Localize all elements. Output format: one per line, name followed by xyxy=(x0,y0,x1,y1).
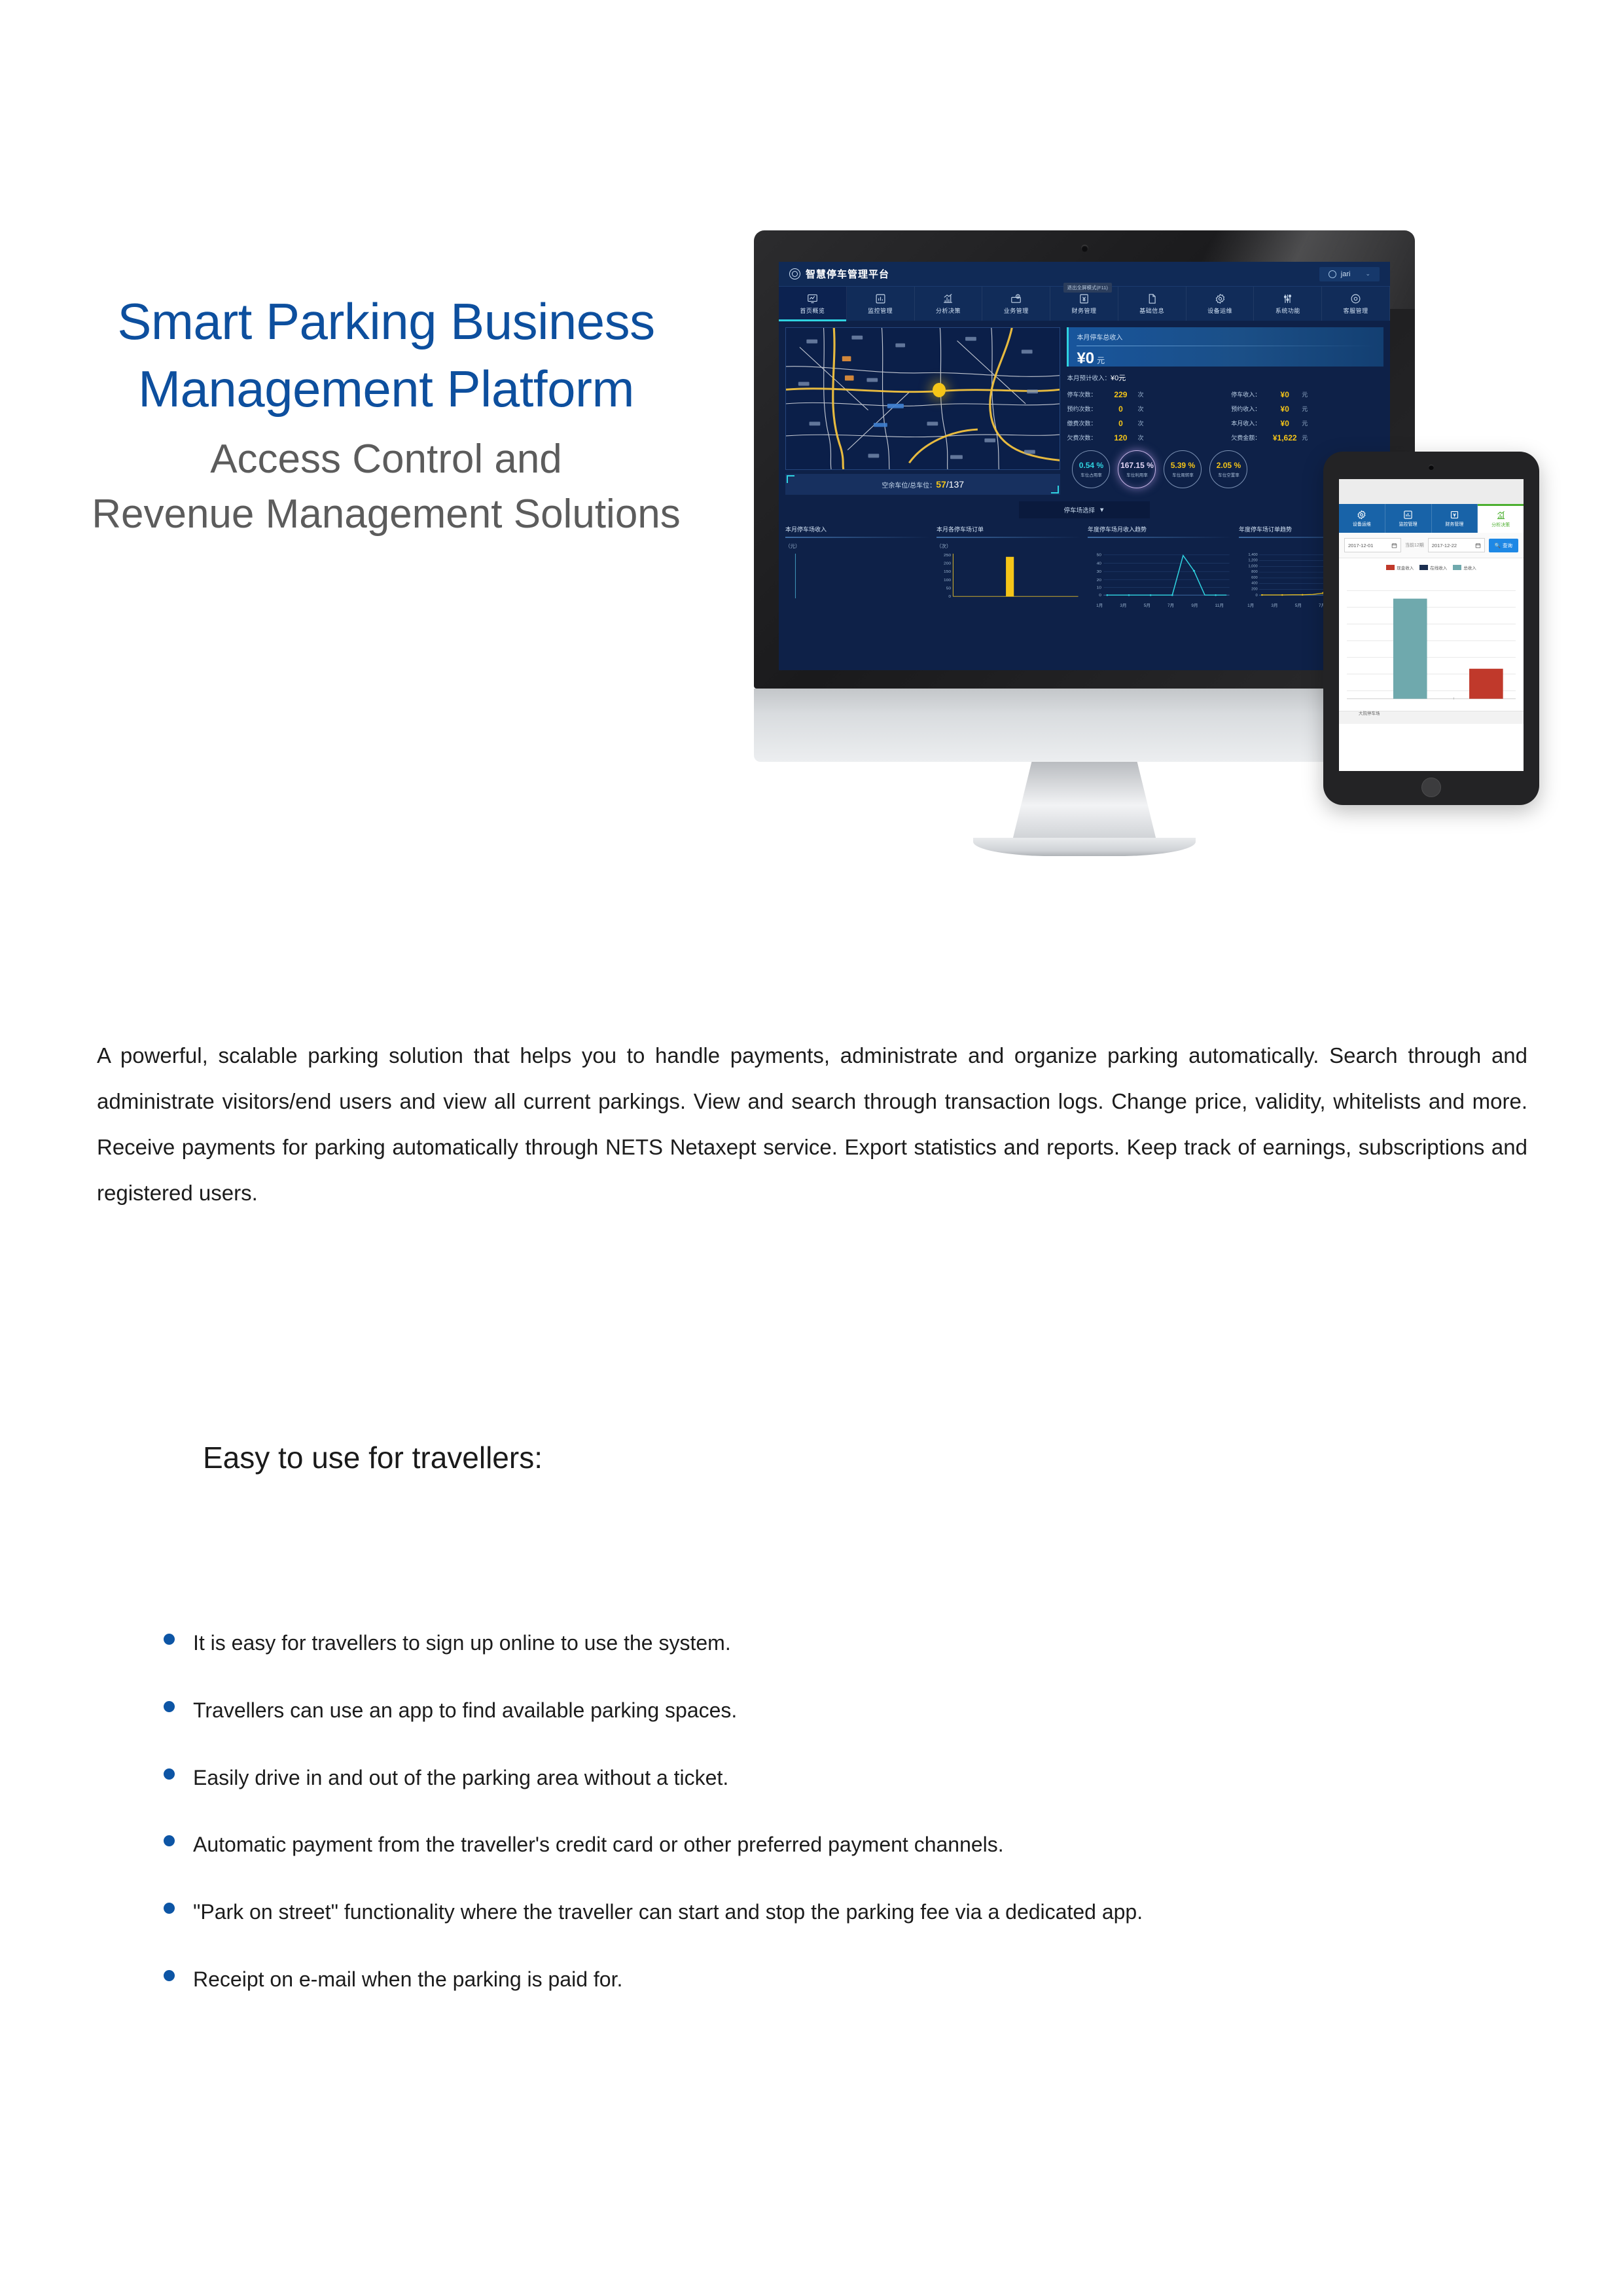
x-tick: 5月 xyxy=(1144,601,1150,608)
lot-selector-label: 停车场选择 xyxy=(1064,505,1096,514)
user-name: jari xyxy=(1341,270,1351,278)
stat-row: 欠费金额： ¥1,622 元 xyxy=(1231,431,1383,444)
legend-swatch xyxy=(1419,565,1428,570)
expected-revenue-line: 本月预计收入：¥0元 xyxy=(1067,372,1383,383)
svg-text:250: 250 xyxy=(944,553,952,558)
bullet-dot-icon xyxy=(164,1903,175,1914)
x-tick: 1月 xyxy=(1247,601,1254,608)
nav-label: 基础信息 xyxy=(1139,306,1164,315)
svg-text:30: 30 xyxy=(1097,569,1102,574)
divider xyxy=(1088,537,1232,538)
svg-text:0: 0 xyxy=(1099,593,1101,598)
date-from-input[interactable]: 2017-12-01 xyxy=(1344,538,1401,552)
svg-text:50: 50 xyxy=(1097,553,1102,558)
svg-text:100: 100 xyxy=(944,578,952,583)
tablet-chart-legend: 现金收入 在线收入 总收入 xyxy=(1339,558,1524,573)
chart-ylabel: （元） xyxy=(785,543,930,550)
intro-paragraph: A powerful, scalable parking solution th… xyxy=(97,1033,1527,1216)
stat-key: 停车收入： xyxy=(1231,390,1268,399)
chart-canvas xyxy=(785,551,930,602)
divider xyxy=(1077,346,1376,346)
gauge-label: 车位利用率 xyxy=(1126,471,1148,478)
nav-label: 财务管理 xyxy=(1072,306,1097,315)
logo-icon xyxy=(789,268,800,279)
gauge-turnover: 5.39 % 车位周转率 xyxy=(1164,450,1202,488)
document-icon xyxy=(1147,293,1158,304)
stat-key: 欠费金额： xyxy=(1231,433,1268,442)
nav-item-monitoring[interactable]: 监控管理 xyxy=(847,287,915,321)
tablet-chart-xlabel: 大院停车场 xyxy=(1347,709,1516,716)
hero-section: Smart Parking Business Management Platfo… xyxy=(0,0,1623,903)
x-tick: 3月 xyxy=(1120,601,1126,608)
stat-unit: 次 xyxy=(1137,419,1149,427)
tablet-nav-item-device-ops[interactable]: 设备运维 xyxy=(1339,504,1385,533)
stat-row: 本月收入： ¥0 元 xyxy=(1231,417,1383,429)
stat-unit: 元 xyxy=(1302,433,1313,442)
page-subtitle-line-1: Access Control and xyxy=(59,432,713,487)
svg-text:1,400: 1,400 xyxy=(1248,553,1257,557)
date-from-value: 2017-12-01 xyxy=(1348,543,1373,548)
bullet-text: It is easy for travellers to sign up onl… xyxy=(193,1623,1505,1663)
stat-unit: 元 xyxy=(1302,419,1313,427)
list-item: "Park on street" functionality where the… xyxy=(164,1892,1505,1932)
stat-key: 预约次数： xyxy=(1067,404,1103,413)
date-range-separator: 当前12期 xyxy=(1405,542,1424,548)
chart-title: 本月停车场收入 xyxy=(785,525,930,537)
tablet-screen: 设备运维 监控管理 财务管理 分析决策 2017-12-01 xyxy=(1339,479,1524,771)
x-tick: 1月 xyxy=(1096,601,1103,608)
list-item: Travellers can use an app to find availa… xyxy=(164,1691,1505,1731)
bar-total-revenue xyxy=(1393,599,1427,699)
tablet-nav-item-monitoring[interactable]: 监控管理 xyxy=(1385,504,1432,533)
search-button-label: 查询 xyxy=(1503,542,1512,549)
stat-value: ¥0 xyxy=(1268,390,1302,399)
spaces-label: 空余车位/总车位： xyxy=(882,480,936,490)
calendar-icon xyxy=(1475,543,1481,548)
search-icon: 🔍 xyxy=(1495,543,1501,548)
legend-label: 总收入 xyxy=(1463,564,1476,571)
page-title-line-2: Management Platform xyxy=(59,355,713,423)
stat-value: 0 xyxy=(1103,404,1137,414)
gauge-value: 167.15 % xyxy=(1120,461,1154,470)
svg-text:50: 50 xyxy=(946,586,952,591)
legend-swatch xyxy=(1453,565,1461,570)
legend-label: 现金收入 xyxy=(1397,564,1414,571)
chart-monthly-lot-orders: 本月各停车场订单 （次） 250200 150100 500 xyxy=(936,525,1081,608)
svg-text:40: 40 xyxy=(1097,562,1102,566)
dashboard-screen: 智慧停车管理平台 jari ⌄ 首页概览 xyxy=(779,262,1390,670)
chart-annual-revenue-trend: 年度停车场月收入趋势 xyxy=(1088,525,1232,608)
tablet-statusbar xyxy=(1339,479,1524,504)
gauge-vacancy: 2.05 % 车位空置率 xyxy=(1209,450,1247,488)
stat-row: 预约收入： ¥0 元 xyxy=(1231,403,1383,415)
stat-unit: 次 xyxy=(1137,433,1149,442)
section-heading: Easy to use for travellers: xyxy=(203,1440,543,1475)
stat-key: 欠费次数： xyxy=(1067,433,1103,442)
divider xyxy=(785,537,930,538)
map-location-pin-icon xyxy=(933,383,946,397)
nav-label: 首页概览 xyxy=(800,306,825,315)
divider xyxy=(936,537,1081,538)
nav-item-device-ops[interactable]: 设备运维 xyxy=(1186,287,1255,321)
svg-text:150: 150 xyxy=(944,569,952,574)
tablet-mockup: 设备运维 监控管理 财务管理 分析决策 2017-12-01 xyxy=(1323,452,1539,805)
dashboard-title: 智慧停车管理平台 xyxy=(806,267,889,281)
list-item: Easily drive in and out of the parking a… xyxy=(164,1758,1505,1798)
nav-label: 分析决策 xyxy=(936,306,961,315)
chevron-down-icon: ⌄ xyxy=(1365,270,1370,278)
bullet-text: Travellers can use an app to find availa… xyxy=(193,1691,1505,1731)
svg-text:1,200: 1,200 xyxy=(1248,559,1257,563)
yen-box-icon xyxy=(1450,510,1459,520)
bar-chart-icon xyxy=(875,293,886,304)
x-tick: 5月 xyxy=(1295,601,1302,608)
stat-row: 欠费次数： 120 次 xyxy=(1067,431,1219,444)
trend-chart-icon xyxy=(1496,511,1506,520)
page-subtitle-line-2: Revenue Management Solutions xyxy=(59,487,713,542)
bar-chart-icon xyxy=(1403,510,1413,520)
stat-row: 预约次数： 0 次 xyxy=(1067,403,1219,415)
svg-text:600: 600 xyxy=(1251,576,1258,580)
stat-key: 缴费次数： xyxy=(1067,419,1103,427)
nav-item-finance[interactable]: 退出全屏模式(F11) 财务管理 xyxy=(1050,287,1118,321)
gauge-value: 0.54 % xyxy=(1079,461,1103,470)
svg-text:400: 400 xyxy=(1251,582,1258,586)
bullet-dot-icon xyxy=(164,1970,175,1981)
list-item: Receipt on e-mail when the parking is pa… xyxy=(164,1960,1505,2000)
gear-icon xyxy=(1215,293,1226,304)
tablet-date-filter: 2017-12-01 当前12期 2017-12-22 🔍 查询 xyxy=(1339,533,1524,558)
date-to-input[interactable]: 2017-12-22 xyxy=(1428,538,1485,552)
parking-lot-selector[interactable]: 停车场选择 ▼ xyxy=(1019,501,1150,518)
tablet-nav-item-analysis[interactable]: 分析决策 xyxy=(1478,504,1524,533)
stat-row: 停车次数： 229 次 xyxy=(1067,388,1219,401)
chart-canvas: 250200 150100 500 xyxy=(936,551,1081,602)
chart-canvas: 5040 3020 100 xyxy=(1088,550,1232,601)
svg-text:0: 0 xyxy=(948,594,951,599)
monitor-base xyxy=(973,838,1196,856)
revenue-unit: 元 xyxy=(1097,356,1105,365)
stat-value: ¥1,622 xyxy=(1268,433,1302,442)
x-tick: 9月 xyxy=(1191,601,1198,608)
trend-chart-icon xyxy=(942,293,954,304)
map-panel: 空余车位/总车位： 57 /137 xyxy=(785,327,1060,495)
svg-text:200: 200 xyxy=(1251,588,1258,592)
chart-monthly-lot-revenue: 本月停车场收入 （元） xyxy=(785,525,930,608)
gear-icon xyxy=(1357,510,1366,520)
x-tick: 7月 xyxy=(1168,601,1174,608)
stat-value: 229 xyxy=(1103,390,1137,399)
stat-row: 缴费次数： 0 次 xyxy=(1067,417,1219,429)
gauge-value: 2.05 % xyxy=(1217,461,1241,470)
stat-unit: 次 xyxy=(1137,390,1149,399)
stat-unit: 次 xyxy=(1137,404,1149,413)
map-roads xyxy=(786,328,1060,469)
stat-value: ¥0 xyxy=(1268,419,1302,428)
tablet-nav-item-finance[interactable]: 财务管理 xyxy=(1432,504,1478,533)
chart-title: 年度停车场月收入趋势 xyxy=(1088,525,1232,537)
feature-bullet-list: It is easy for travellers to sign up onl… xyxy=(164,1623,1505,2027)
tablet-camera-icon xyxy=(1429,465,1434,470)
nav-label: 监控管理 xyxy=(868,306,893,315)
nav-item-overview[interactable]: 首页概览 xyxy=(779,287,847,321)
briefcase-clock-icon xyxy=(1010,293,1022,304)
stat-key: 预约收入： xyxy=(1231,404,1268,413)
legend-item-total[interactable]: 总收入 xyxy=(1453,564,1476,571)
expected-label: 本月预计收入： xyxy=(1067,375,1111,382)
sliders-icon xyxy=(1282,293,1293,304)
stat-value: 0 xyxy=(1103,419,1137,428)
tablet-nav-label: 财务管理 xyxy=(1445,521,1463,528)
dashboard-content: 空余车位/总车位： 57 /137 本月停车总收入 ¥0元 xyxy=(779,321,1390,615)
fullscreen-tooltip: 退出全屏模式(F11) xyxy=(1063,283,1112,293)
nav-item-analysis[interactable]: 分析决策 xyxy=(915,287,983,321)
monitor-stand xyxy=(1011,762,1158,846)
page-title-line-1: Smart Parking Business xyxy=(59,288,713,355)
nav-item-basic-info[interactable]: 基础信息 xyxy=(1118,287,1186,321)
expected-value: ¥0元 xyxy=(1111,374,1126,382)
bullet-dot-icon xyxy=(164,1634,175,1645)
chevron-down-icon: ▼ xyxy=(1099,507,1105,514)
search-button[interactable]: 🔍 查询 xyxy=(1489,539,1518,552)
legend-item-online[interactable]: 在线收入 xyxy=(1419,564,1447,571)
date-to-value: 2017-12-22 xyxy=(1432,543,1457,548)
monitor-chin xyxy=(754,689,1415,762)
gauge-utilization: 167.15 % 车位利用率 xyxy=(1118,450,1156,488)
hero-text-block: Smart Parking Business Management Platfo… xyxy=(59,288,713,541)
x-tick: 11月 xyxy=(1215,601,1224,608)
nav-label: 客服管理 xyxy=(1344,306,1368,315)
bullet-text: "Park on street" functionality where the… xyxy=(193,1892,1505,1932)
bullet-text: Easily drive in and out of the parking a… xyxy=(193,1758,1505,1798)
headset-icon xyxy=(1350,293,1361,304)
tablet-nav-label: 分析决策 xyxy=(1491,522,1510,528)
charts-row: 本月停车场收入 （元） 本月各停车场订单 xyxy=(785,525,1383,608)
stat-value: 120 xyxy=(1103,433,1137,442)
chart-ylabel: （次） xyxy=(936,543,1081,550)
bullet-dot-icon xyxy=(164,1768,175,1780)
nav-label: 业务管理 xyxy=(1004,306,1029,315)
parking-map[interactable] xyxy=(785,327,1060,470)
tablet-nav-label: 设备运维 xyxy=(1353,521,1371,528)
nav-label: 系统功能 xyxy=(1275,306,1300,315)
list-item: Automatic payment from the traveller's c… xyxy=(164,1825,1505,1865)
stat-row: 停车收入： ¥0 元 xyxy=(1231,388,1383,401)
tablet-revenue-chart: 大院停车场 xyxy=(1339,573,1524,711)
gauge-label: 车位占用率 xyxy=(1080,471,1102,478)
legend-swatch xyxy=(1386,565,1395,570)
parking-spaces-indicator: 空余车位/总车位： 57 /137 xyxy=(785,474,1060,495)
nav-item-system[interactable]: 系统功能 xyxy=(1254,287,1322,321)
desktop-monitor-mockup: 智慧停车管理平台 jari ⌄ 首页概览 xyxy=(754,230,1415,793)
svg-text:10: 10 xyxy=(1097,586,1102,590)
gauge-label: 车位周转率 xyxy=(1172,471,1194,478)
bullet-dot-icon xyxy=(164,1701,175,1712)
bullet-dot-icon xyxy=(164,1835,175,1846)
legend-label: 在线收入 xyxy=(1430,564,1447,571)
revenue-amount: ¥0 xyxy=(1077,350,1094,367)
revenue-label: 本月停车总收入 xyxy=(1077,332,1376,342)
chart-title: 本月各停车场订单 xyxy=(936,525,1081,537)
nav-label: 设备运维 xyxy=(1207,306,1232,315)
stat-key: 停车次数： xyxy=(1067,390,1103,399)
dashboard-nav: 首页概览 监控管理 分析决策 业务管理 退出全屏模 xyxy=(779,287,1390,321)
monitor-bezel: 智慧停车管理平台 jari ⌄ 首页概览 xyxy=(754,230,1415,689)
svg-text:20: 20 xyxy=(1097,578,1102,583)
tablet-nav-label: 监控管理 xyxy=(1399,521,1418,528)
tablet-nav: 设备运维 监控管理 财务管理 分析决策 xyxy=(1339,504,1524,533)
user-menu[interactable]: jari ⌄ xyxy=(1319,267,1380,281)
stat-unit: 元 xyxy=(1302,390,1313,399)
bullet-text: Receipt on e-mail when the parking is pa… xyxy=(193,1960,1505,2000)
legend-item-cash[interactable]: 现金收入 xyxy=(1386,564,1414,571)
calendar-icon xyxy=(1391,543,1397,548)
spaces-total-value: /137 xyxy=(946,479,964,490)
bar-cash-revenue xyxy=(1469,669,1503,699)
chart-x-labels: 1月 3月 5月 7月 9月 11月 xyxy=(1088,601,1232,608)
tablet-home-button[interactable] xyxy=(1421,778,1441,797)
dashboard-brand: 智慧停车管理平台 xyxy=(789,267,889,281)
svg-text:800: 800 xyxy=(1251,570,1258,574)
x-tick: 3月 xyxy=(1271,601,1277,608)
gauge-occupancy: 0.54 % 车位占用率 xyxy=(1072,450,1110,488)
nav-item-customer-service[interactable]: 客服管理 xyxy=(1322,287,1390,321)
nav-item-business[interactable]: 业务管理 xyxy=(982,287,1050,321)
list-item: It is easy for travellers to sign up onl… xyxy=(164,1623,1505,1663)
user-avatar-icon xyxy=(1329,270,1336,278)
yen-box-icon xyxy=(1079,293,1090,304)
spaces-free-value: 57 xyxy=(936,479,946,490)
svg-text:200: 200 xyxy=(944,562,952,566)
stat-unit: 元 xyxy=(1302,404,1313,413)
webcam-icon xyxy=(1081,245,1088,252)
stat-value: ¥0 xyxy=(1268,404,1302,414)
svg-text:1,000: 1,000 xyxy=(1248,565,1257,569)
gauge-label: 车位空置率 xyxy=(1218,471,1240,478)
bullet-text: Automatic payment from the traveller's c… xyxy=(193,1825,1505,1865)
stat-key: 本月收入： xyxy=(1231,419,1268,427)
monthly-revenue-card: 本月停车总收入 ¥0元 ⇄ 停车总览 xyxy=(1067,327,1383,367)
monitor-chart-icon xyxy=(807,293,818,304)
svg-text:0: 0 xyxy=(1256,594,1258,598)
stats-grid: 停车次数： 229 次 停车收入： ¥0 元 预 xyxy=(1067,388,1383,444)
gauge-value: 5.39 % xyxy=(1171,461,1195,470)
